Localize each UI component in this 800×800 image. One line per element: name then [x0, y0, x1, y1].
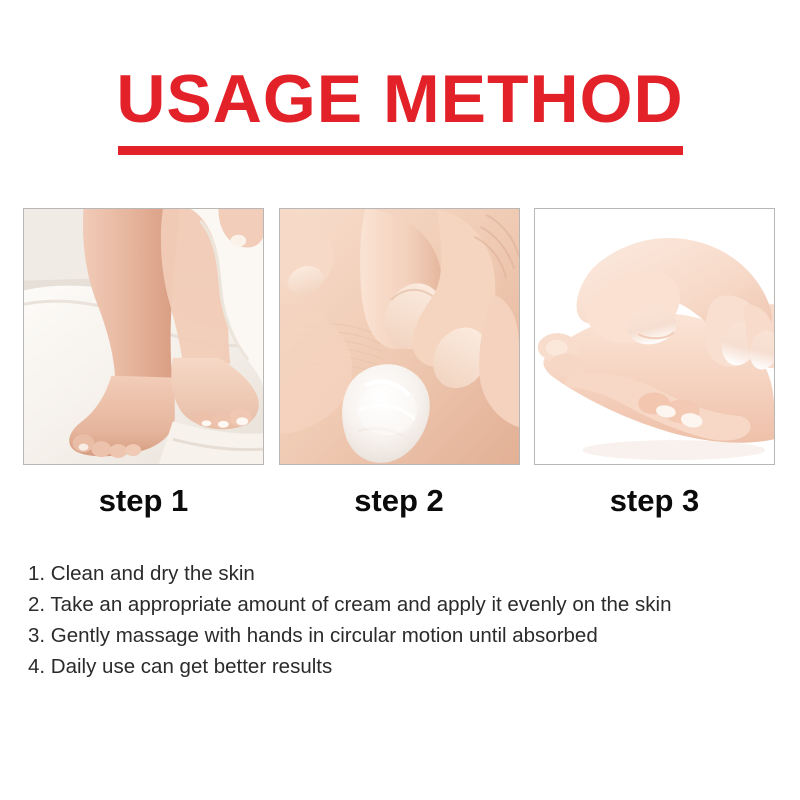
- instruction-item: 4. Daily use can get better results: [28, 651, 788, 682]
- foot-massage-photo: [535, 209, 774, 464]
- step-image-panel-3: [534, 208, 775, 465]
- instruction-item: 1. Clean and dry the skin: [28, 558, 788, 589]
- page-title: USAGE METHOD: [0, 62, 800, 136]
- step-image-panel-2: [279, 208, 520, 465]
- step-label-2: step 2: [279, 482, 520, 522]
- title-underline-rule: [118, 146, 683, 155]
- step-image-panel-1: [23, 208, 264, 465]
- cream-applied-to-sole-photo: [280, 209, 519, 464]
- step-images-row: [23, 208, 775, 465]
- step-label-1: step 1: [23, 482, 264, 522]
- page-title-block: USAGE METHOD: [0, 62, 800, 136]
- instructions-list: 1. Clean and dry the skin 2. Take an app…: [28, 558, 788, 682]
- instruction-item: 3. Gently massage with hands in circular…: [28, 620, 788, 651]
- step-label-3: step 3: [534, 482, 775, 522]
- feet-dried-with-towel-photo: [24, 209, 263, 464]
- instruction-item: 2. Take an appropriate amount of cream a…: [28, 589, 788, 620]
- step-labels-row: step 1 step 2 step 3: [23, 482, 775, 522]
